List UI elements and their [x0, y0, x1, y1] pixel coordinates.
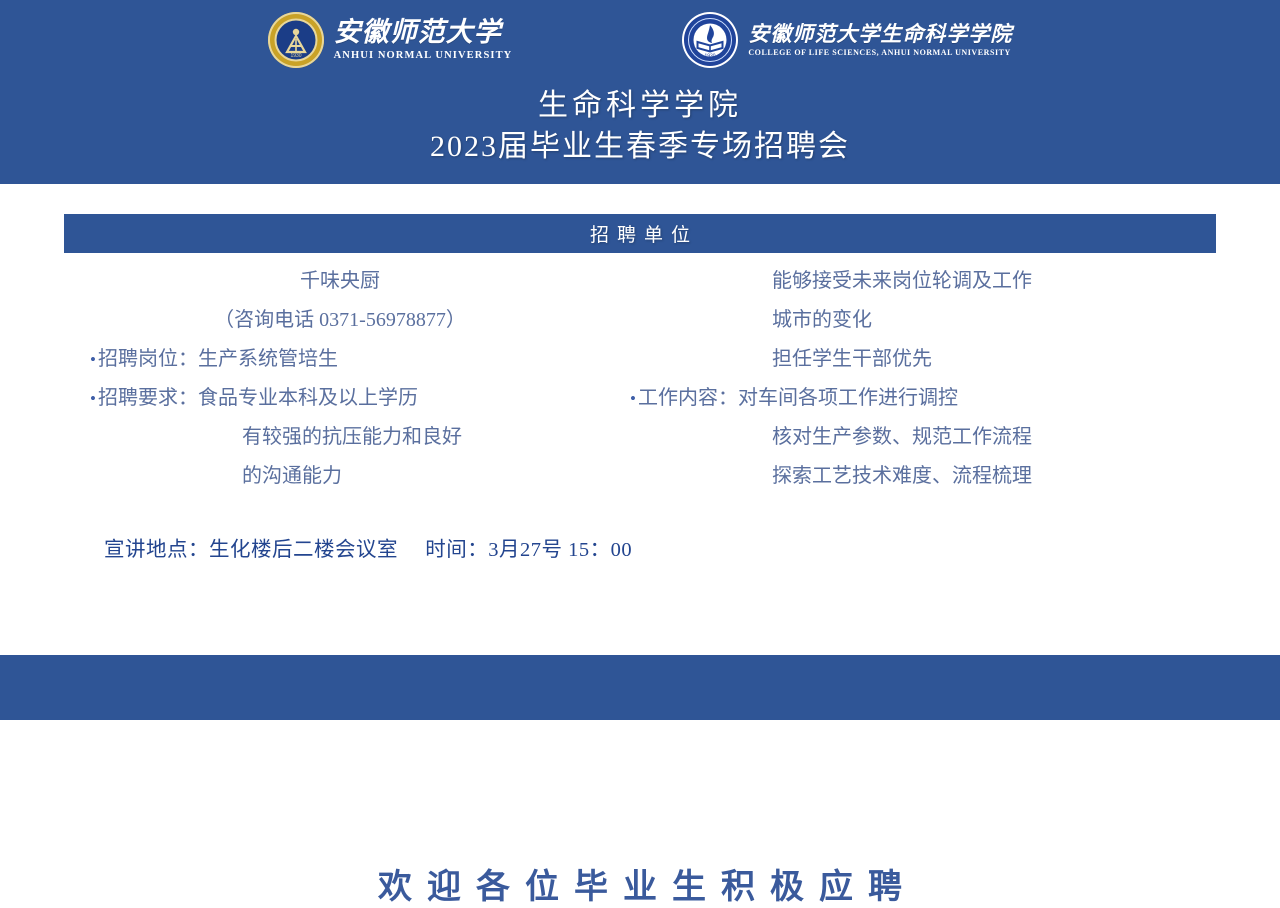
left-column: 千味央厨 （咨询电话 0371-56978877） • 招聘岗位：生产系统管培生…	[90, 262, 590, 496]
meeting-time: 时间：3月27号 15：00	[425, 539, 632, 561]
university-name-cn: 安徽师范大学	[334, 19, 513, 46]
list-item-continuation: 探索工艺技术难度、流程梳理	[630, 457, 1150, 496]
page-footer	[0, 655, 1280, 720]
list-item-text: 招聘岗位：生产系统管培生	[98, 340, 338, 379]
seal-flame-book-emblem-icon: 1930	[682, 12, 738, 68]
requirement-continuation: 担任学生干部优先	[630, 340, 1150, 379]
list-item-continuation: 的沟通能力	[90, 457, 590, 496]
bullet-icon: •	[90, 379, 96, 418]
list-item: • 招聘要求：食品专业本科及以上学历	[90, 379, 590, 418]
meeting-info: 宣讲地点：生化楼后二楼会议室 时间：3月27号 15：00	[104, 532, 632, 562]
section-banner-label: 招聘单位	[582, 220, 698, 247]
page-header: 1930 安徽师范大学 ANHUI NORMAL UNIVERSITY 1930	[0, 0, 1280, 184]
svg-text:1930: 1930	[290, 53, 301, 59]
university-logo-words: 安徽师范大学 ANHUI NORMAL UNIVERSITY	[334, 19, 513, 62]
content-area: 千味央厨 （咨询电话 0371-56978877） • 招聘岗位：生产系统管培生…	[0, 262, 1280, 652]
requirement-continuation: 城市的变化	[630, 301, 1150, 340]
list-item-text: 工作内容：对车间各项工作进行调控	[638, 379, 958, 418]
list-item: • 招聘岗位：生产系统管培生	[90, 340, 590, 379]
company-contact-line: （咨询电话 0371-56978877）	[90, 301, 590, 340]
university-name-en: ANHUI NORMAL UNIVERSITY	[334, 51, 513, 62]
welcome-slogan: 欢迎各位毕业生积极应聘	[0, 859, 1280, 908]
svg-text:1930: 1930	[705, 54, 716, 60]
right-column: 能够接受未来岗位轮调及工作 城市的变化 担任学生干部优先 • 工作内容：对车间各…	[630, 262, 1150, 496]
company-name: 千味央厨	[90, 262, 590, 301]
title-line-2: 2023届毕业生春季专场招聘会	[0, 126, 1280, 168]
seal-inner-emblem-icon: 1930	[268, 12, 324, 68]
college-name-cn: 安徽师范大学生命科学学院	[748, 24, 1012, 45]
meeting-place: 宣讲地点：生化楼后二楼会议室	[104, 539, 398, 561]
anhui-normal-university-seal-icon: 1930	[268, 12, 324, 68]
list-item-continuation: 有较强的抗压能力和良好	[90, 418, 590, 457]
list-item: • 工作内容：对车间各项工作进行调控	[630, 379, 1150, 418]
college-name-en: COLLEGE OF LIFE SCIENCES, ANHUI NORMAL U…	[748, 49, 1012, 57]
list-item-text: 招聘要求：食品专业本科及以上学历	[98, 379, 418, 418]
college-logo-block: 1930 安徽师范大学生命科学学院 COLLEGE OF LIFE SCIENC…	[682, 12, 1012, 68]
bullet-icon: •	[630, 379, 636, 418]
logo-row: 1930 安徽师范大学 ANHUI NORMAL UNIVERSITY 1930	[0, 8, 1280, 72]
page-title: 生命科学学院 2023届毕业生春季专场招聘会	[0, 86, 1280, 168]
college-logo-words: 安徽师范大学生命科学学院 COLLEGE OF LIFE SCIENCES, A…	[748, 24, 1012, 57]
requirement-continuation: 能够接受未来岗位轮调及工作	[630, 262, 1150, 301]
section-banner-recruiting-unit: 招聘单位	[64, 214, 1216, 253]
university-logo-block: 1930 安徽师范大学 ANHUI NORMAL UNIVERSITY	[268, 12, 513, 68]
college-of-life-sciences-seal-icon: 1930	[682, 12, 738, 68]
bullet-icon: •	[90, 340, 96, 379]
title-line-1: 生命科学学院	[0, 86, 1280, 126]
list-item-continuation: 核对生产参数、规范工作流程	[630, 418, 1150, 457]
